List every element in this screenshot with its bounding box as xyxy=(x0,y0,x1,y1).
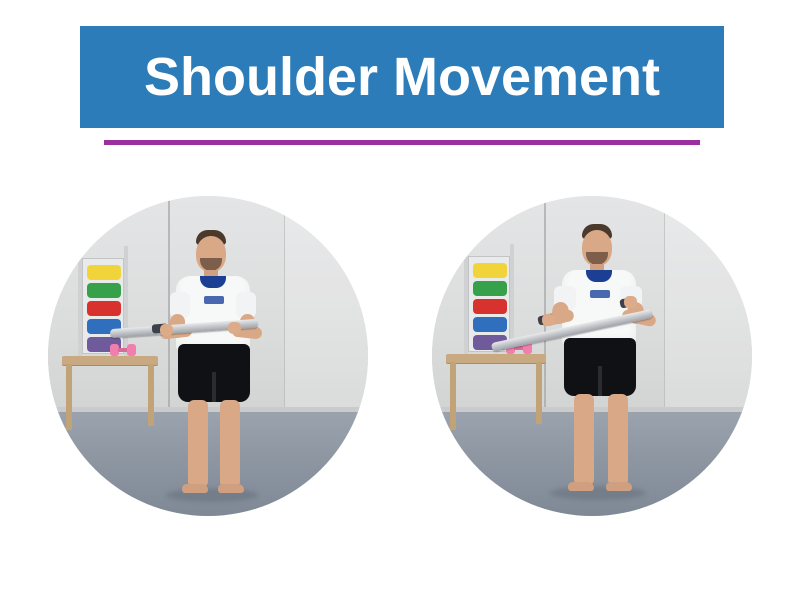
slide-title-banner: Shoulder Movement xyxy=(80,26,724,128)
gym-scene-left xyxy=(48,196,368,516)
photo-row xyxy=(0,196,800,526)
person-right xyxy=(432,196,752,516)
foot-right xyxy=(218,484,244,493)
photo-end-position xyxy=(432,196,752,516)
floor-shadow xyxy=(166,488,258,502)
photo-start-position xyxy=(48,196,368,516)
shorts-split xyxy=(212,372,216,402)
leg-right xyxy=(220,400,240,486)
person-left xyxy=(48,196,368,516)
hand-right xyxy=(228,322,241,334)
gym-scene-right xyxy=(432,196,752,516)
page-title: Shoulder Movement xyxy=(144,50,660,104)
hand-left xyxy=(542,314,555,326)
title-accent-rule xyxy=(104,140,700,145)
foot-right xyxy=(606,482,632,491)
leg-left xyxy=(574,394,594,484)
foot-left xyxy=(182,484,208,493)
hand-right xyxy=(624,296,637,308)
shorts-split xyxy=(598,366,602,396)
shirt-logo xyxy=(204,296,224,304)
shirt-logo xyxy=(590,290,610,298)
leg-left xyxy=(188,400,208,486)
hand-left xyxy=(160,324,173,336)
leg-right xyxy=(608,394,628,484)
foot-left xyxy=(568,482,594,491)
